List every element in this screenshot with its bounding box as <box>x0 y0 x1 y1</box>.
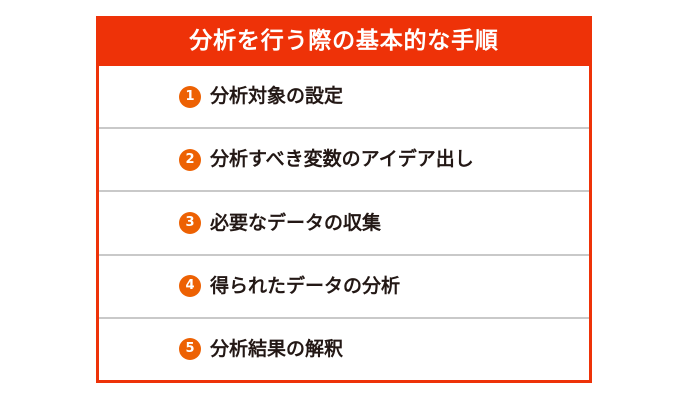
step-number-badge: 4 <box>179 275 201 297</box>
list-item: 4 得られたデータの分析 <box>99 254 589 317</box>
steps-list: 1 分析対象の設定 2 分析すべき変数のアイデア出し 3 必要なデータの収集 4… <box>99 66 589 380</box>
steps-card: 分析を行う際の基本的な手順 1 分析対象の設定 2 分析すべき変数のアイデア出し… <box>96 16 592 383</box>
step-label: 分析対象の設定 <box>210 85 343 108</box>
page-title: 分析を行う際の基本的な手順 <box>189 30 498 53</box>
list-item: 3 必要なデータの収集 <box>99 190 589 253</box>
step-label: 得られたデータの分析 <box>210 275 400 298</box>
page-root: 分析を行う際の基本的な手順 1 分析対象の設定 2 分析すべき変数のアイデア出し… <box>0 0 688 401</box>
list-item: 5 分析結果の解釈 <box>99 317 589 380</box>
step-number-badge: 2 <box>179 149 201 171</box>
list-item: 1 分析対象の設定 <box>99 66 589 127</box>
step-label: 分析すべき変数のアイデア出し <box>210 148 474 171</box>
step-number-badge: 3 <box>179 212 201 234</box>
card-header: 分析を行う際の基本的な手順 <box>96 16 592 66</box>
list-item: 2 分析すべき変数のアイデア出し <box>99 127 589 190</box>
step-label: 必要なデータの収集 <box>210 212 381 235</box>
step-number-badge: 5 <box>179 338 201 360</box>
step-label: 分析結果の解釈 <box>210 338 343 361</box>
step-number-badge: 1 <box>179 86 201 108</box>
